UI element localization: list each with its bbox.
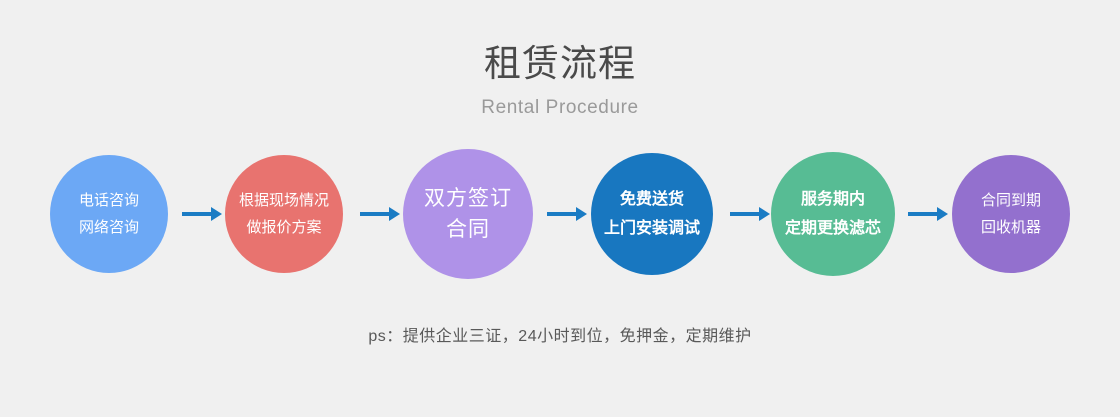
flow-step-3[interactable]: 双方签订 合同 (403, 149, 533, 279)
flow-arrow-4-icon (730, 207, 770, 221)
flow-step-4-line-1: 免费送货 (620, 185, 684, 214)
flow-step-1-line-2: 网络咨询 (79, 214, 139, 241)
flow-arrow-5-icon (908, 207, 948, 221)
flow-step-6[interactable]: 合同到期 回收机器 (952, 155, 1070, 273)
arrow-head (759, 207, 770, 221)
arrow-shaft (182, 212, 213, 216)
flow-step-2[interactable]: 根据现场情况 做报价方案 (225, 155, 343, 273)
page-title: 租赁流程 (0, 42, 1120, 86)
flow-step-5-line-1: 服务期内 (801, 185, 865, 214)
arrow-shaft (908, 212, 939, 216)
arrow-shaft (360, 212, 391, 216)
flow-step-6-line-2: 回收机器 (981, 214, 1041, 241)
flow-step-4-line-2: 上门安装调试 (604, 214, 700, 243)
flow-step-3-line-1: 双方签订 (424, 183, 512, 214)
flow-step-4[interactable]: 免费送货 上门安装调试 (591, 153, 713, 275)
footnote: ps：提供企业三证，24小时到位，免押金，定期维护 (0, 325, 1120, 349)
flow-arrow-1-icon (182, 207, 222, 221)
flow-arrow-3-icon (547, 207, 587, 221)
rental-procedure-infographic: 租赁流程 Rental Procedure 电话咨询 网络咨询 根据现场情况 做… (0, 0, 1120, 417)
flow-step-1-line-1: 电话咨询 (79, 187, 139, 214)
flow-arrow-2-icon (360, 207, 400, 221)
flow-step-2-line-1: 根据现场情况 (239, 187, 329, 214)
page-subtitle: Rental Procedure (0, 95, 1120, 121)
flow-step-6-line-1: 合同到期 (981, 187, 1041, 214)
flow-step-5[interactable]: 服务期内 定期更换滤芯 (771, 152, 895, 276)
flow-step-5-line-2: 定期更换滤芯 (785, 214, 881, 243)
arrow-shaft (730, 212, 761, 216)
arrow-head (389, 207, 400, 221)
arrow-head (937, 207, 948, 221)
arrow-head (211, 207, 222, 221)
flow-step-3-line-2: 合同 (446, 214, 490, 245)
process-flow: 电话咨询 网络咨询 根据现场情况 做报价方案 双方签订 合同 免费送货 上门安装… (0, 155, 1120, 285)
arrow-shaft (547, 212, 578, 216)
flow-step-2-line-2: 做报价方案 (246, 214, 321, 241)
arrow-head (576, 207, 587, 221)
flow-step-1[interactable]: 电话咨询 网络咨询 (50, 155, 168, 273)
